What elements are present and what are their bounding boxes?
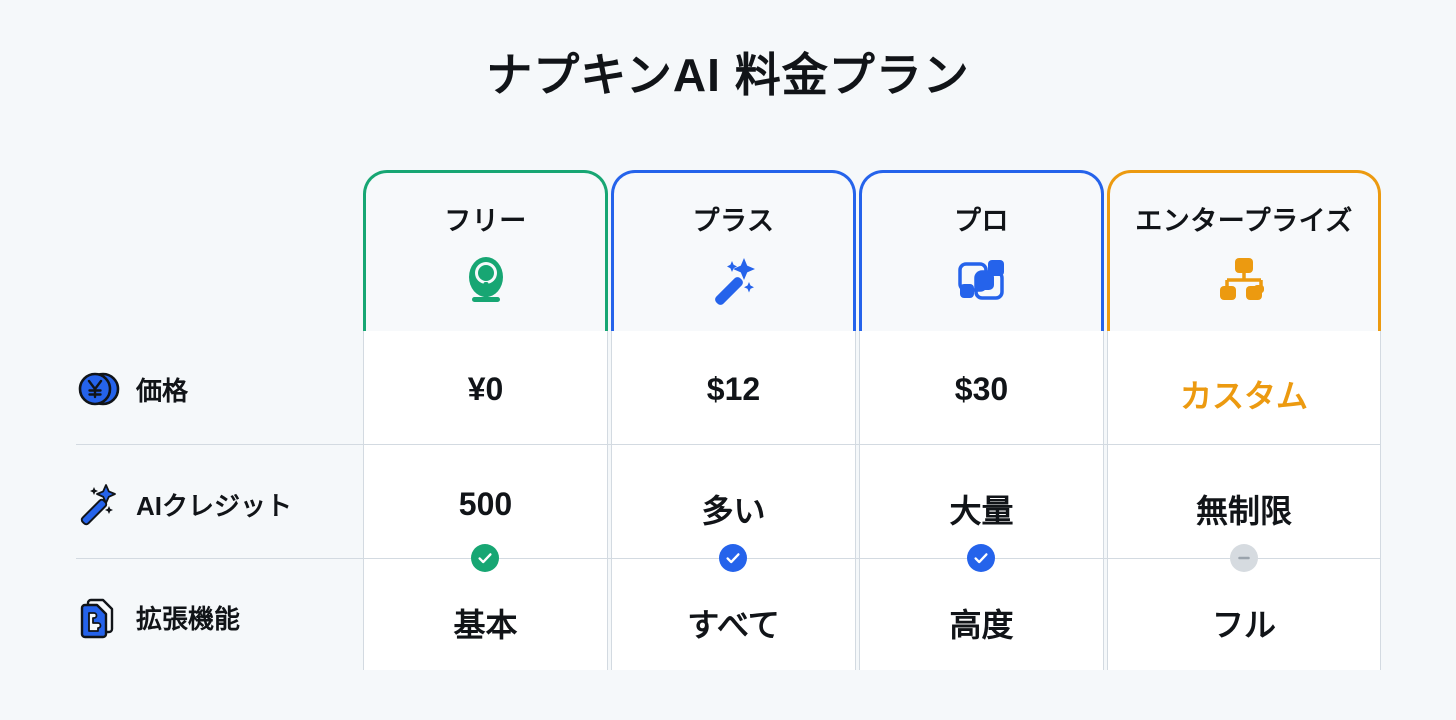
row-label-text-extensions: 拡張機能 <box>136 599 240 636</box>
plan-card-plus[interactable]: プラス <box>611 170 856 331</box>
pricing-table-body: ¥0 $12 $30 カスタム 500 多い 大量 無制限 基本 すべて 高度 … <box>363 331 1381 670</box>
org-chart-icon <box>1216 252 1272 308</box>
table-divider-1 <box>363 444 1381 445</box>
sprout-icon <box>458 252 514 308</box>
check-icon <box>476 549 494 567</box>
plan-card-enterprise[interactable]: エンタープライズ <box>1107 170 1381 331</box>
stacked-layers-icon <box>954 252 1010 308</box>
cell-ai-credits-free: 500 <box>363 486 608 523</box>
pricing-table-page: ナプキンAI 料金プラン フリー プラス プロ <box>0 0 1456 720</box>
cell-price-free: ¥0 <box>363 371 608 408</box>
table-divider-2 <box>363 558 1381 559</box>
cell-extensions-pro: 高度 <box>859 600 1104 646</box>
row-label-text-ai-credits: AIクレジット <box>136 486 292 523</box>
cell-price-pro: $30 <box>859 371 1104 408</box>
row-label-column: 価格 AIクレジット 拡張機能 <box>0 331 363 670</box>
label-divider-2 <box>76 558 363 559</box>
check-icon <box>972 549 990 567</box>
yen-coin-icon <box>76 366 122 412</box>
row-label-text-price: 価格 <box>136 371 188 408</box>
check-badge-free <box>471 544 499 572</box>
puzzle-document-icon <box>76 594 122 640</box>
cell-price-enterprise: カスタム <box>1107 371 1381 417</box>
plan-card-free[interactable]: フリー <box>363 170 608 331</box>
check-badge-plus <box>719 544 747 572</box>
row-label-ai-credits: AIクレジット <box>76 481 292 527</box>
cell-extensions-plus: すべて <box>611 600 856 646</box>
row-label-extensions: 拡張機能 <box>76 594 240 640</box>
cell-extensions-enterprise: フル <box>1107 600 1381 646</box>
plan-name-enterprise: エンタープライズ <box>1135 199 1353 238</box>
plan-header-cards: フリー プラス プロ <box>363 170 1381 331</box>
magic-wand-icon <box>706 252 762 308</box>
minus-icon <box>1235 549 1253 567</box>
check-icon <box>724 549 742 567</box>
cell-ai-credits-enterprise: 無制限 <box>1107 486 1381 532</box>
cell-ai-credits-plus: 多い <box>611 486 856 532</box>
plan-card-pro[interactable]: プロ <box>859 170 1104 331</box>
magic-wand-icon <box>76 481 122 527</box>
dash-badge-enterprise <box>1230 544 1258 572</box>
plan-name-free: フリー <box>444 199 527 238</box>
cell-extensions-free: 基本 <box>363 600 608 646</box>
plan-name-pro: プロ <box>954 199 1009 238</box>
page-title: ナプキンAI 料金プラン <box>0 46 1456 104</box>
cell-price-plus: $12 <box>611 371 856 408</box>
plan-name-plus: プラス <box>693 199 775 238</box>
label-divider-1 <box>76 444 363 445</box>
check-badge-pro <box>967 544 995 572</box>
cell-ai-credits-pro: 大量 <box>859 486 1104 532</box>
row-label-price: 価格 <box>76 366 188 412</box>
